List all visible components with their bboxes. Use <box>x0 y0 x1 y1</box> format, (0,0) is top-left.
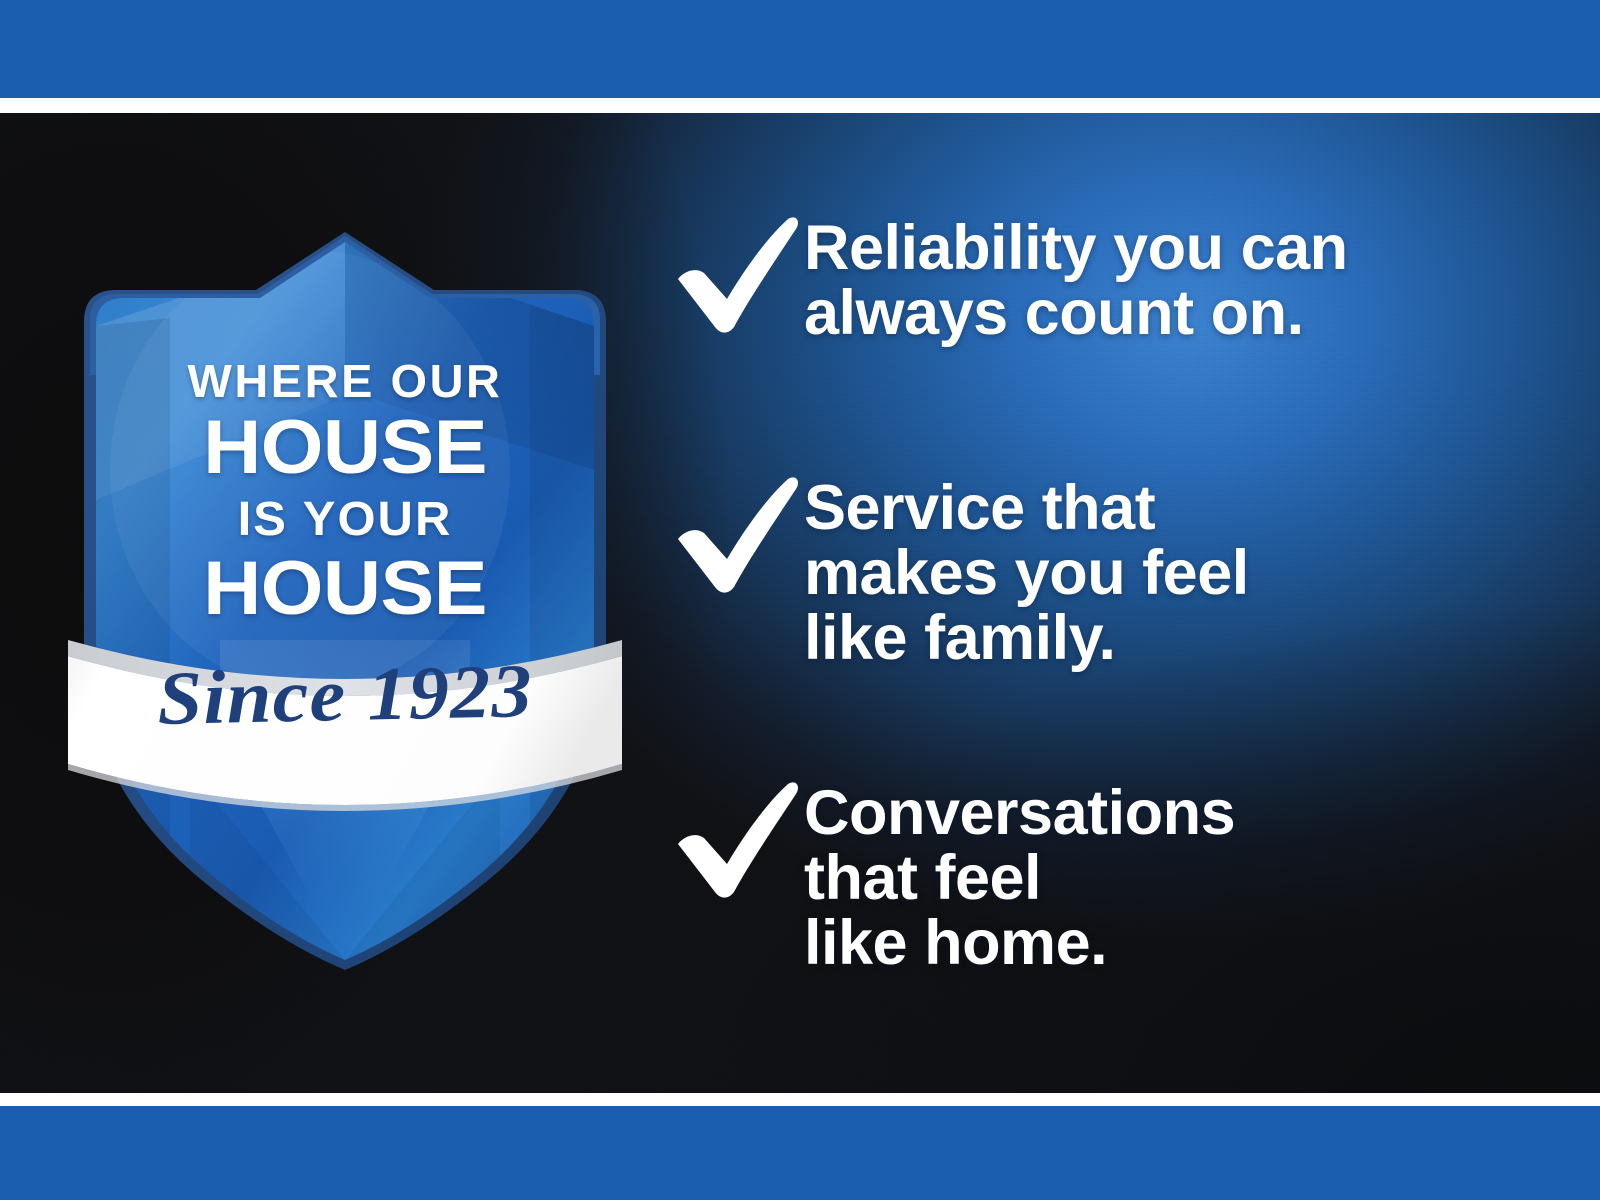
list-item-text: Reliability you can always count on. <box>804 216 1348 346</box>
check-mark-icon <box>668 780 800 898</box>
list-item: Service that makes you feel like family. <box>668 473 1249 671</box>
promo-graphic: WHERE OUR HOUSE IS YOUR HOUSE Since 1923… <box>0 0 1600 1200</box>
bullet-list: Reliability you can always count on. Ser… <box>668 113 1568 1093</box>
top-brand-bar <box>0 0 1600 98</box>
list-item-text: Service that makes you feel like family. <box>804 476 1249 671</box>
shield-face <box>96 242 594 970</box>
list-item: Conversations that feel like home. <box>668 778 1235 976</box>
bottom-white-divider <box>0 1093 1600 1106</box>
check-mark-icon <box>668 475 800 593</box>
badge-logo: WHERE OUR HOUSE IS YOUR HOUSE Since 1923 <box>60 170 630 960</box>
check-mark-icon <box>668 215 800 333</box>
top-white-divider <box>0 98 1600 113</box>
bottom-brand-bar <box>0 1106 1600 1200</box>
list-item-text: Conversations that feel like home. <box>804 781 1235 976</box>
list-item: Reliability you can always count on. <box>668 213 1348 346</box>
